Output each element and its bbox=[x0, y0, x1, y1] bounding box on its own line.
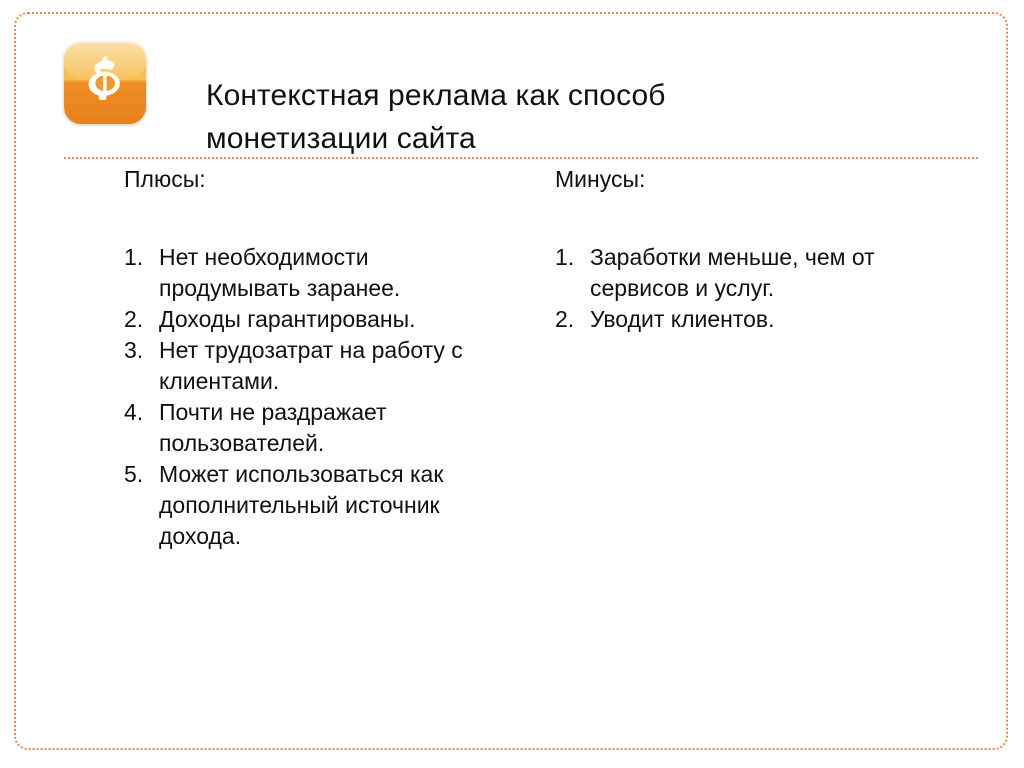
list-item-text: Уводит клиентов. bbox=[590, 304, 955, 335]
pros-list: 1. Нет необходимости продумывать заранее… bbox=[124, 242, 514, 552]
list-item-text: Заработки меньше, чем от сервисов и услу… bbox=[590, 242, 955, 304]
list-item-marker: 3. bbox=[124, 335, 152, 366]
list-item-text: Нет необходимости продумывать заранее. bbox=[159, 242, 514, 304]
slide-body: Плюсы: 1. Нет необходимости продумывать … bbox=[16, 164, 1010, 752]
list-item: 2. Доходы гарантированы. bbox=[124, 304, 514, 335]
list-item-text: Почти не раздражает пользователей. bbox=[159, 397, 514, 459]
slide-title: Контекстная реклама как способ монетизац… bbox=[206, 74, 976, 160]
list-item: 4. Почти не раздражает пользователей. bbox=[124, 397, 514, 459]
slide-header: Контекстная реклама как способ монетизац… bbox=[16, 14, 1010, 164]
list-item: 2. Уводит клиентов. bbox=[555, 304, 955, 335]
list-item-marker: 5. bbox=[124, 459, 152, 490]
cons-list: 1. Заработки меньше, чем от сервисов и у… bbox=[555, 242, 955, 335]
list-item-marker: 1. bbox=[555, 242, 583, 273]
dollar-money-bag-icon bbox=[64, 42, 146, 124]
header-divider bbox=[64, 157, 978, 159]
pros-column: Плюсы: 1. Нет необходимости продумывать … bbox=[124, 164, 514, 552]
list-item-text: Доходы гарантированы. bbox=[159, 304, 514, 335]
list-item: 5. Может использоваться как дополнительн… bbox=[124, 459, 514, 552]
pros-heading: Плюсы: bbox=[124, 164, 514, 194]
list-item-text: Нет трудозатрат на работу с клиентами. bbox=[159, 335, 514, 397]
list-item: 1. Нет необходимости продумывать заранее… bbox=[124, 242, 514, 304]
slide-frame: Контекстная реклама как способ монетизац… bbox=[14, 12, 1008, 750]
list-item-marker: 4. bbox=[124, 397, 152, 428]
list-item-marker: 2. bbox=[555, 304, 583, 335]
list-item-marker: 2. bbox=[124, 304, 152, 335]
list-item-text: Может использоваться как дополнительный … bbox=[159, 459, 514, 552]
cons-column: Минусы: 1. Заработки меньше, чем от серв… bbox=[555, 164, 955, 335]
list-item: 3. Нет трудозатрат на работу с клиентами… bbox=[124, 335, 514, 397]
list-item: 1. Заработки меньше, чем от сервисов и у… bbox=[555, 242, 955, 304]
list-item-marker: 1. bbox=[124, 242, 152, 273]
cons-heading: Минусы: bbox=[555, 164, 955, 194]
